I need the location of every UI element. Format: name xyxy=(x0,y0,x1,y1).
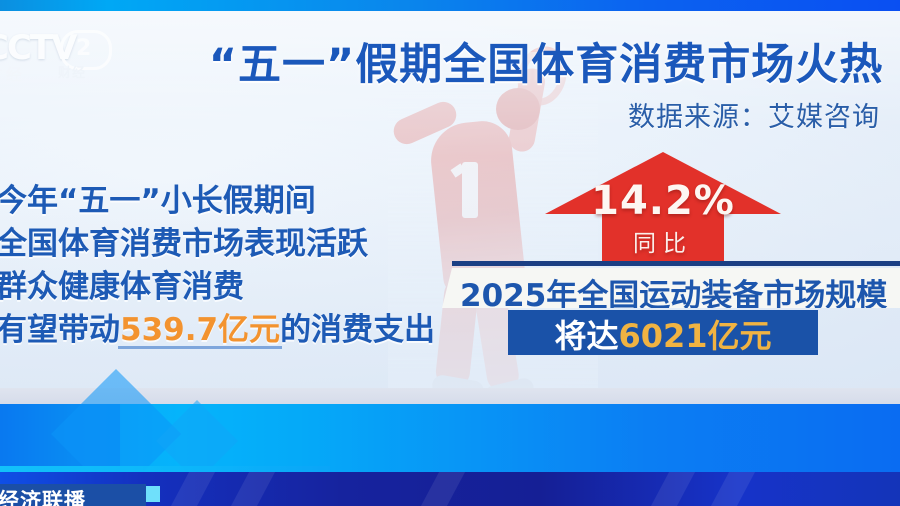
market-value-banner: 将达6021亿元 xyxy=(508,310,818,355)
cctv-channel-logo: CCTV 2 财经 财经 xyxy=(0,28,124,84)
growth-percent-value: 14.2% xyxy=(545,178,781,224)
page-title: “五一”假期全国体育消费市场火热 xyxy=(206,30,886,92)
band-stripe-1 xyxy=(171,472,215,506)
top-accent-bar xyxy=(0,0,900,11)
consumption-value-highlight: 539.7亿元 xyxy=(120,312,280,348)
lower-third-cap xyxy=(146,486,160,502)
band-stripe-4 xyxy=(651,472,695,506)
channel-name-label-secondary: 财经 xyxy=(58,62,86,81)
narrative-line-4: 有望带动539.7亿元的消费支出 xyxy=(0,309,426,352)
band-stripe-5 xyxy=(711,472,755,506)
growth-percent-label: 同比 xyxy=(545,224,781,258)
narrative-line-4-suffix: 的消费支出 xyxy=(280,312,435,348)
narrative-line-2: 全国体育消费市场表现活跃 xyxy=(0,223,426,266)
lower-third-label-text: 经济联播 xyxy=(0,485,86,506)
market-size-banner: 2025年全国运动装备市场规模 xyxy=(442,268,900,308)
narrative-line-3: 群众健康体育消费 xyxy=(0,266,426,309)
market-value-prefix: 将达 xyxy=(554,317,618,355)
market-value-text: 将达6021亿元 xyxy=(508,311,818,357)
banner-divider-rule xyxy=(452,261,900,266)
narrative-line-4-prefix: 有望带动 xyxy=(0,312,120,348)
market-value-number: 6021亿元 xyxy=(618,317,771,355)
channel-name-label: 财经 xyxy=(0,61,26,85)
narrative-line-1: 今年“五一”小长假期间 xyxy=(0,180,426,223)
broadcast-graphic: CCTV 2 财经 财经 “五一”假期全国体育消费市场火热 数据来源：艾媒咨询 … xyxy=(0,0,900,506)
band-stripe-3 xyxy=(421,472,465,506)
data-source-note: 数据来源：艾媒咨询 xyxy=(300,95,880,134)
lower-third-label: 经济联播 xyxy=(0,484,146,506)
narrative-text-block: 今年“五一”小长假期间 全国体育消费市场表现活跃 群众健康体育消费 有望带动53… xyxy=(0,180,426,352)
channel-number: 2 xyxy=(76,36,91,61)
lower-blue-band xyxy=(0,404,900,472)
band-stripe-2 xyxy=(231,472,275,506)
